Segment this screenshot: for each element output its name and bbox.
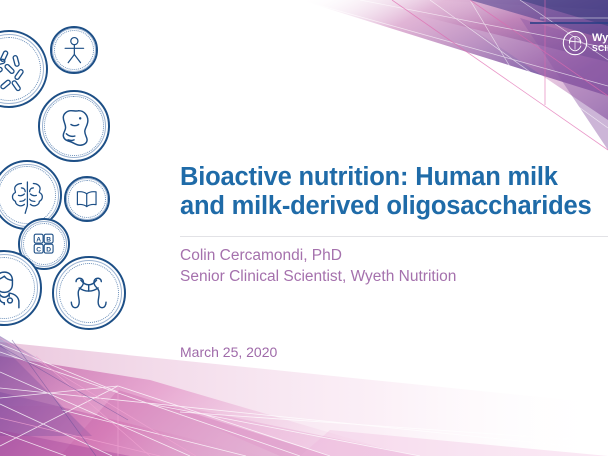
slide-title-text: Bioactive nutrition: Human milk and milk… bbox=[180, 163, 608, 220]
bacteria-icon bbox=[0, 30, 48, 108]
slide-title-line-1: Bioactive nutrition: Human milk bbox=[180, 163, 608, 192]
icon-cluster: A B C D bbox=[0, 18, 156, 338]
intestines-icon bbox=[52, 256, 126, 330]
slide-title-line-2: and milk-derived oligosaccharides bbox=[180, 192, 608, 221]
presenter-role: Senior Clinical Scientist, Wyeth Nutriti… bbox=[180, 267, 600, 288]
book-icon bbox=[64, 176, 110, 222]
abcd-letter-d: D bbox=[47, 247, 52, 254]
logo-wordmark: Wyeth SCIENCE CENTER bbox=[592, 33, 608, 53]
presentation-slide: A B C D bbox=[0, 0, 608, 456]
presenter-block: Colin Cercamondi, PhD Senior Clinical Sc… bbox=[180, 246, 600, 288]
infant-icon bbox=[50, 26, 98, 74]
slide-date: March 25, 2020 bbox=[180, 344, 277, 360]
abcd-letter-b: B bbox=[47, 237, 52, 244]
shield-laurel-crest-icon bbox=[562, 30, 588, 56]
wyeth-science-center-logo: Wyeth SCIENCE CENTER bbox=[562, 26, 608, 60]
presenter-name: Colin Cercamondi, PhD bbox=[180, 246, 600, 267]
title-divider bbox=[180, 236, 608, 237]
abcd-letter-c: C bbox=[37, 247, 42, 254]
abcd-letter-a: A bbox=[37, 237, 42, 244]
logo-subtitle: SCIENCE CENTER bbox=[592, 44, 608, 53]
page-title: Bioactive nutrition: Human milk and milk… bbox=[180, 163, 608, 220]
fetus-icon bbox=[38, 90, 110, 162]
